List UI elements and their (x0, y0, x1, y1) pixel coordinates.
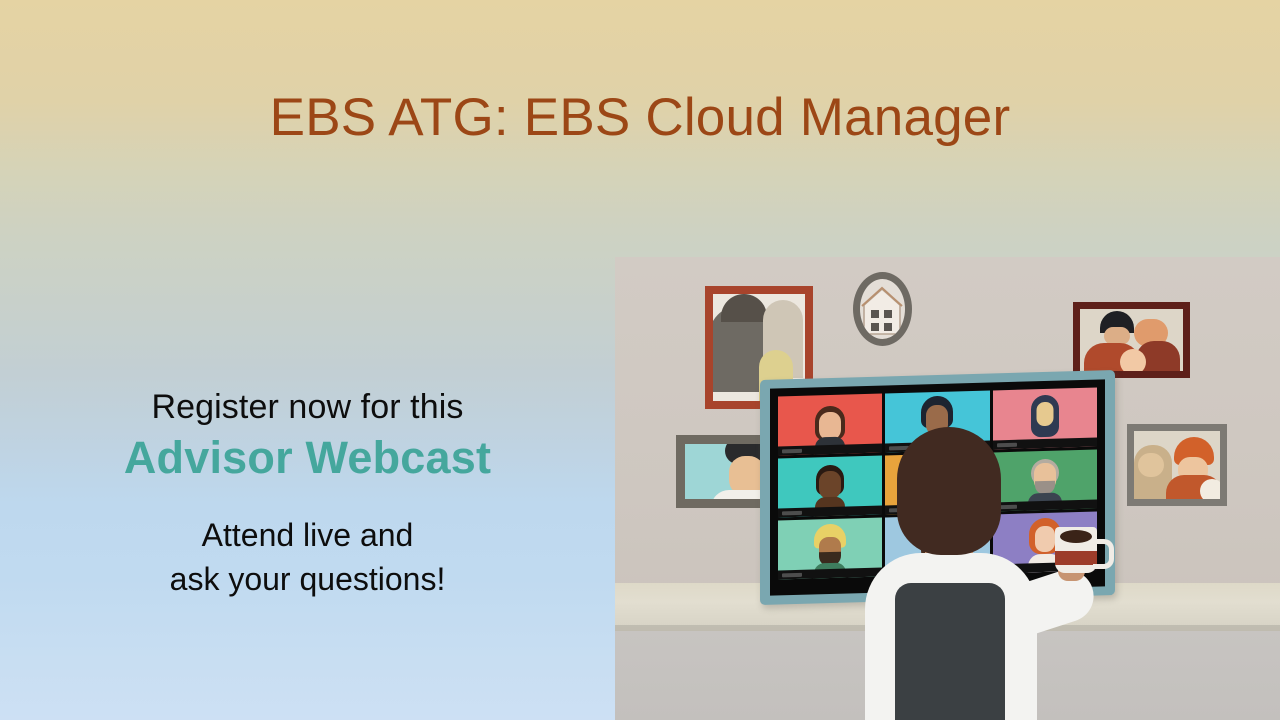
page-title: EBS ATG: EBS Cloud Manager (0, 88, 1280, 148)
framed-house-oval-icon (853, 272, 912, 346)
framed-portrait-lower-left-icon (676, 435, 772, 508)
family-baby (1120, 349, 1146, 371)
frame-contents (1134, 431, 1220, 499)
pair-person-1-face (1138, 453, 1164, 477)
presentation-slide: EBS ATG: EBS Cloud Manager Register now … (0, 0, 1280, 720)
frame-contents (860, 279, 905, 339)
text-spacer (0, 487, 615, 513)
advisor-webcast-heading: Advisor Webcast (0, 429, 615, 487)
mug-band (1055, 551, 1097, 565)
house-icon (860, 279, 905, 339)
attend-line-2: ask your questions! (0, 557, 615, 601)
frame-contents (1080, 309, 1183, 371)
framed-family-photo-icon (1073, 302, 1190, 378)
register-line: Register now for this (0, 385, 615, 429)
participant-face (1036, 402, 1053, 426)
man-vest (895, 583, 1005, 720)
pair-baby (1200, 479, 1220, 499)
promo-text-block: Register now for this Advisor Webcast At… (0, 385, 615, 601)
portrait-figure-hair (721, 294, 767, 322)
man-watching-webcast (855, 427, 1085, 720)
participant-face (819, 471, 841, 500)
portrait-shirt (711, 490, 763, 499)
coffee-mug-icon (1055, 527, 1097, 573)
mug-handle (1093, 539, 1114, 569)
frame-contents (685, 444, 763, 499)
mug-coffee-surface (1060, 530, 1092, 543)
attend-line-1: Attend live and (0, 513, 615, 557)
man-hair (897, 427, 1001, 555)
framed-pair-photo-icon (1127, 424, 1227, 506)
webcast-illustration (615, 257, 1280, 720)
